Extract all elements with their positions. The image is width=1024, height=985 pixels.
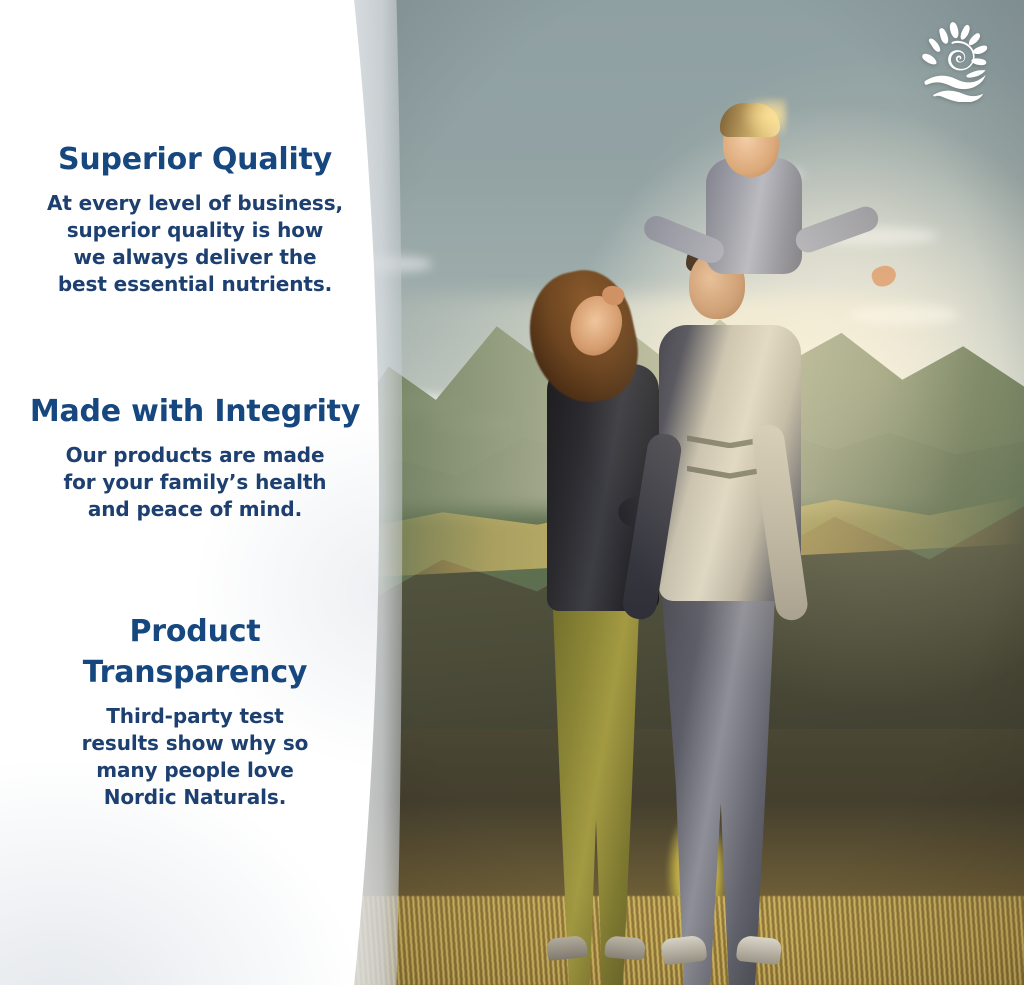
sun-wave-logo-icon [920,20,998,102]
hero-photo [348,0,1024,985]
family-group [348,0,1024,985]
promotional-graphic: Superior Quality At every level of busin… [0,0,1024,985]
value-propositions: Superior Quality At every level of busin… [0,0,390,985]
value-body: Third-party test results show why so man… [26,703,364,811]
father-jeans [652,571,784,985]
value-block-made-with-integrity: Made with Integrity Our products are mad… [26,392,364,523]
value-headline: Superior Quality [26,140,364,181]
child-arm [792,203,881,256]
sun-glow [740,99,786,139]
value-body: At every level of business, superior qua… [26,190,364,298]
value-headline: Product Transparency [26,612,364,694]
mother-legs [544,591,648,985]
value-headline: Made with Integrity [26,392,364,433]
mother-shoe [604,936,646,961]
father-shoe [735,935,781,965]
value-block-superior-quality: Superior Quality At every level of busin… [26,140,364,298]
child-hand [869,263,898,289]
value-body: Our products are made for your family’s … [26,442,364,523]
value-block-product-transparency: Product Transparency Third-party test re… [26,612,364,811]
